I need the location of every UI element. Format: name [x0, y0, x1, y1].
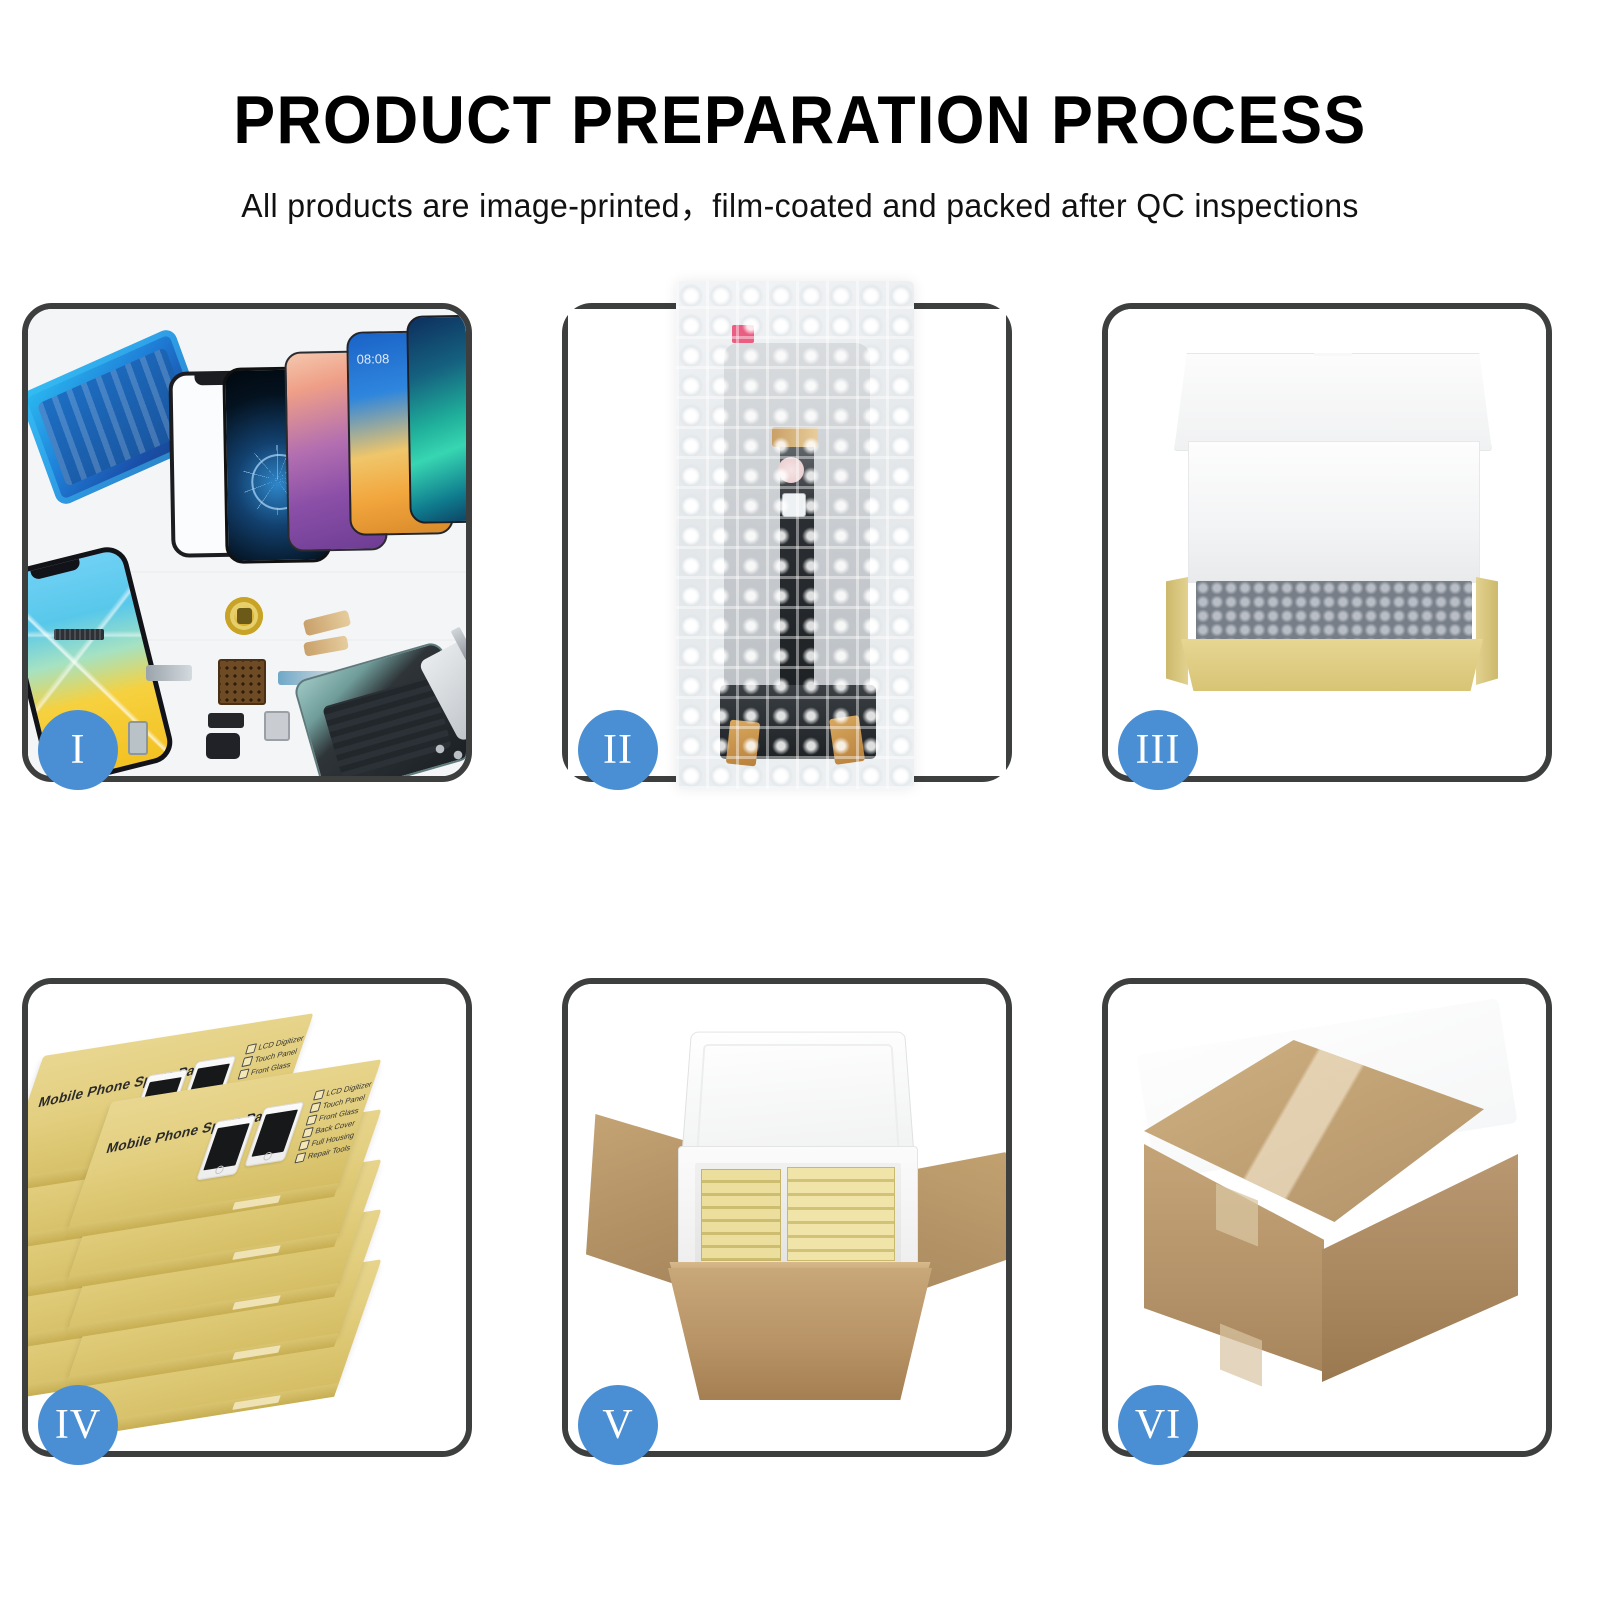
home-button-graphic	[778, 457, 804, 483]
process-step-panel-5: V	[562, 978, 1012, 1457]
process-step-panel-4: Mobile Phone Spare Parts LCD Digitizer T…	[22, 978, 472, 1457]
foam-cooler-in-carton-image	[568, 984, 1006, 1451]
carton-body-graphic	[668, 1268, 932, 1400]
screen-ic-graphic	[782, 493, 806, 517]
foam-tub-graphic	[678, 1146, 918, 1280]
sim-tray-graphic	[128, 721, 148, 755]
header: PRODUCT PREPARATION PROCESS All products…	[0, 0, 1600, 227]
panel-6-stage	[1108, 984, 1546, 1451]
camera-module-graphic	[206, 733, 240, 759]
mailer-lid-graphic	[1174, 353, 1492, 451]
pink-qc-sticker	[732, 325, 754, 343]
loudspeaker-module-graphic	[208, 713, 244, 728]
flex-cable-a-graphic	[303, 610, 352, 637]
step-badge-1: I	[38, 710, 118, 790]
process-step-panel-1: 08:08	[22, 303, 472, 782]
right-connector-tab-graphic	[829, 715, 865, 765]
panel-5-stage	[568, 984, 1006, 1451]
bubble-wrap-fill-graphic	[1196, 581, 1472, 643]
step-badge-2: II	[578, 710, 658, 790]
step-badge-6: VI	[1118, 1385, 1198, 1465]
step-badge-5: V	[578, 1385, 658, 1465]
panel-2-stage	[568, 309, 1006, 776]
battery-connector-graphic	[264, 711, 290, 741]
process-step-panel-3: III	[1102, 303, 1552, 782]
screws-graphic	[432, 741, 466, 763]
mailer-box-image	[1108, 309, 1546, 776]
process-step-panel-2: II	[562, 303, 1012, 782]
step-badge-4: IV	[38, 1385, 118, 1465]
infographic-page: PRODUCT PREPARATION PROCESS All products…	[0, 0, 1600, 1600]
sealed-carton-image	[1108, 984, 1546, 1451]
flex-cable-c-graphic	[146, 665, 192, 681]
yellow-box-stack-right	[787, 1167, 895, 1261]
foam-well-graphic	[695, 1163, 901, 1267]
earpiece-speaker-graphic	[54, 629, 104, 640]
checkbox-lcd-digitizer-front[interactable]	[313, 1089, 325, 1100]
checkbox-lcd-digitizer-back[interactable]	[245, 1043, 257, 1054]
bubble-wrap-pouch-graphic	[676, 281, 914, 789]
yellow-box-stack-left	[701, 1169, 781, 1261]
checkbox-front-glass-front[interactable]	[306, 1114, 318, 1125]
spare-parts-collage-image: 08:08	[28, 309, 466, 776]
phone-status-time: 08:08	[357, 351, 390, 367]
checkbox-full-housing-front[interactable]	[298, 1140, 310, 1151]
mailer-front-wall-graphic	[1178, 639, 1486, 691]
checkbox-repair-tools-front[interactable]	[294, 1152, 306, 1163]
page-title: PRODUCT PREPARATION PROCESS	[64, 86, 1536, 154]
box-stack: Mobile Phone Spare Parts LCD Digitizer T…	[28, 984, 466, 1451]
checkbox-front-glass-back[interactable]	[238, 1068, 250, 1079]
process-panel-grid: 08:08	[22, 303, 1562, 1463]
panel-4-stage: Mobile Phone Spare Parts LCD Digitizer T…	[28, 984, 466, 1451]
panel-3-stage	[1108, 309, 1546, 776]
checkbox-touch-panel-front[interactable]	[309, 1102, 321, 1113]
checkbox-touch-panel-back[interactable]	[241, 1056, 253, 1067]
screen-connector-graphic	[772, 427, 818, 447]
mailer-inner-panel-graphic	[1188, 441, 1480, 583]
checkbox-back-cover-front[interactable]	[302, 1127, 314, 1138]
teal-phone-graphic	[406, 314, 466, 524]
ic-chip-graphic	[218, 659, 266, 705]
panel-1-stage: 08:08	[28, 309, 466, 776]
step-badge-3: III	[1118, 710, 1198, 790]
process-step-panel-6: VI	[1102, 978, 1552, 1457]
wireless-charging-coil-graphic	[225, 597, 263, 635]
page-subtitle: All products are image-printed，film-coat…	[24, 179, 1576, 227]
mailer-left-flap-graphic	[1166, 577, 1188, 685]
left-connector-tab-graphic	[726, 720, 760, 767]
mailer-right-flap-graphic	[1476, 577, 1498, 685]
stacked-retail-boxes-image: Mobile Phone Spare Parts LCD Digitizer T…	[28, 984, 466, 1451]
bubble-wrapped-screen-image	[568, 309, 1006, 776]
